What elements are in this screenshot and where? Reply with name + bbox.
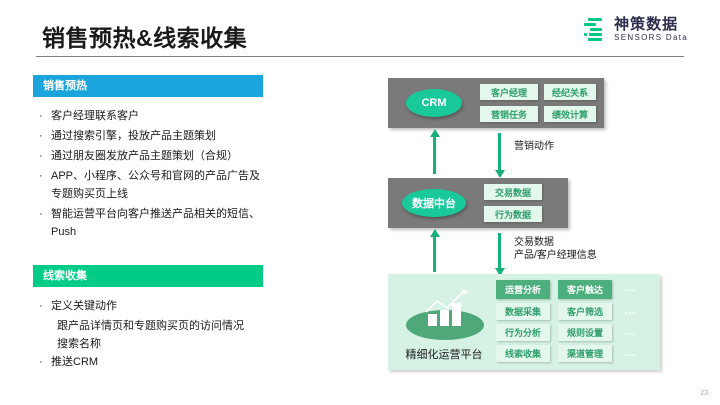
platform-item: 客户筛选 [558, 303, 612, 320]
brand-logo: 神策数据 SENSORS Data [582, 16, 688, 42]
section-body-sales-warmup: · 客户经理联系客户 · 通过搜索引擎，投放产品主题策划 · 通过朋友圈发放产品… [33, 97, 263, 241]
platform-item-ellipsis: ... [624, 326, 636, 338]
list-subitem-text: 搜索名称 [39, 335, 261, 353]
list-item: · 智能运营平台向客户推送产品相关的短信、Push [39, 205, 261, 241]
flow-arrow-up-to-crm [433, 136, 436, 174]
platform-item-ellipsis: ... [624, 347, 636, 359]
logo-name-cn: 神策数据 [614, 17, 688, 32]
bullet-marker: · [39, 107, 51, 125]
crm-tag: 绩效计算 [544, 106, 596, 122]
list-item-text: 智能运营平台向客户推送产品相关的短信、Push [51, 205, 261, 241]
data-platform-node: 数据中台 [402, 189, 466, 217]
platform-column-head-ellipsis: ... [624, 282, 636, 294]
operations-platform-panel: 精细化运营平台 运营分析 数据采集 行为分析 线索收集 客户触达 客户筛选 规则… [388, 274, 660, 370]
title-divider [36, 56, 684, 57]
platform-item: 规则设置 [558, 324, 612, 341]
platform-item: 渠道管理 [558, 345, 612, 362]
list-subitem-text: 跟产品详情页和专题购买页的访问情况 [39, 317, 261, 335]
list-item: · APP、小程序、公众号和官网的产品广告及专题购买页上线 [39, 167, 261, 203]
section-spacer [33, 243, 263, 265]
platform-item: 线索收集 [496, 345, 550, 362]
platform-label: 精细化运营平台 [394, 346, 494, 362]
data-tag: 交易数据 [484, 184, 542, 200]
platform-item: 数据采集 [496, 303, 550, 320]
platform-item-ellipsis: ... [624, 305, 636, 317]
slide-root: 销售预热&线索收集 神策数据 SENSORS Data 销售预热 · 客户经理联… [0, 0, 720, 405]
list-item-text: 定义关键动作 [51, 297, 261, 315]
sensors-logo-icon [582, 16, 608, 42]
growth-chart-icon [402, 286, 486, 342]
flow-arrow-down-transaction-data [498, 233, 501, 269]
list-item: · 通过朋友圈发放产品主题策划（合规） [39, 147, 261, 165]
crm-tag: 营销任务 [480, 106, 538, 122]
logo-name-en: SENSORS Data [614, 34, 688, 42]
section-body-lead-collection: · 定义关键动作 跟产品详情页和专题购买页的访问情况 搜索名称 · 推送CRM [33, 287, 263, 371]
platform-column-head: 客户触达 [558, 280, 612, 299]
list-item: · 定义关键动作 [39, 297, 261, 315]
flow-label-marketing-action: 营销动作 [514, 140, 554, 153]
list-item: · 通过搜索引擎，投放产品主题策划 [39, 127, 261, 145]
data-platform-box: 数据中台 交易数据 行为数据 [388, 178, 568, 228]
crm-node: CRM [406, 89, 462, 117]
list-item-text: 客户经理联系客户 [51, 107, 261, 125]
crm-tag: 经纪关系 [544, 84, 596, 100]
list-item: · 客户经理联系客户 [39, 107, 261, 125]
flow-arrow-up-to-data-platform [433, 236, 436, 272]
bullet-marker: · [39, 353, 51, 371]
flow-arrow-down-marketing-action [498, 133, 501, 171]
bullet-marker: · [39, 127, 51, 145]
bullet-marker: · [39, 297, 51, 315]
bullet-marker: · [39, 205, 51, 241]
page-number: 23 [700, 390, 708, 397]
list-item-text: 通过朋友圈发放产品主题策划（合规） [51, 147, 261, 165]
page-title: 销售预热&线索收集 [42, 19, 247, 53]
crm-box: CRM 客户经理 经纪关系 营销任务 绩效计算 [388, 78, 604, 128]
list-item: · 推送CRM [39, 353, 261, 371]
list-item-text: APP、小程序、公众号和官网的产品广告及专题购买页上线 [51, 167, 261, 203]
data-tag: 行为数据 [484, 206, 542, 222]
section-header-lead-collection: 线索收集 [33, 265, 263, 287]
left-content-column: 销售预热 · 客户经理联系客户 · 通过搜索引擎，投放产品主题策划 · 通过朋友… [33, 75, 263, 373]
section-header-sales-warmup: 销售预热 [33, 75, 263, 97]
flow-label-transaction-data: 交易数据 产品/客户经理信息 [514, 236, 597, 262]
platform-column-head: 运营分析 [496, 280, 550, 299]
crm-tag: 客户经理 [480, 84, 538, 100]
architecture-diagram: CRM 客户经理 经纪关系 营销任务 绩效计算 营销动作 数据中台 交易数据 行… [388, 78, 688, 368]
list-item-text: 通过搜索引擎，投放产品主题策划 [51, 127, 261, 145]
bullet-marker: · [39, 147, 51, 165]
list-item-text: 推送CRM [51, 353, 261, 371]
bullet-marker: · [39, 167, 51, 203]
platform-item: 行为分析 [496, 324, 550, 341]
